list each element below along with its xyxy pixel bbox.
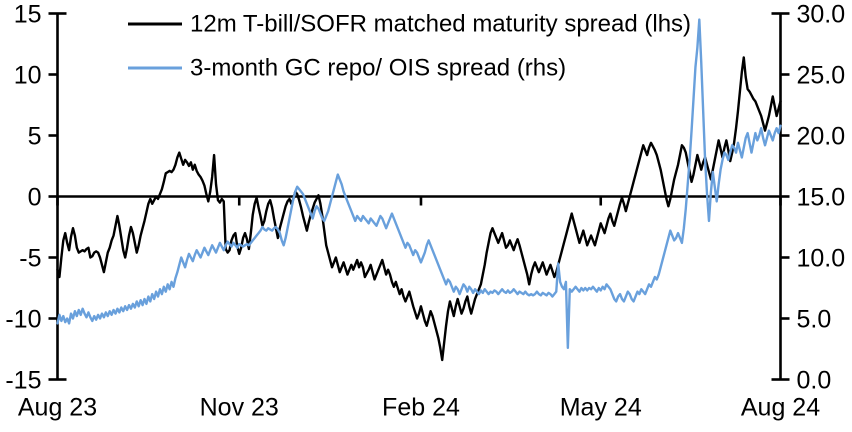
y-axis-right-tick-label: 10.0 — [797, 245, 846, 273]
y-axis-right-tick-label: 30.0 — [797, 1, 846, 29]
x-axis-tick-label: Aug 24 — [741, 394, 820, 422]
series-line-lhs — [58, 57, 781, 360]
y-axis-right-tick-label: 5.0 — [797, 306, 832, 334]
y-axis-left-tick-label: 5 — [28, 123, 42, 151]
chart-legend: 12m T-bill/SOFR matched maturity spread … — [128, 10, 691, 81]
legend-label-0: 12m T-bill/SOFR matched maturity spread … — [190, 10, 691, 37]
y-axis-right-tick-label: 15.0 — [797, 184, 846, 212]
y-axis-right-tick-label: 0.0 — [797, 367, 832, 395]
y-axis-right-tick-label: 20.0 — [797, 123, 846, 151]
y-axis-left-tick-label: -5 — [19, 245, 41, 273]
chart-container: 151050-5-10-15 30.025.020.015.010.05.00.… — [0, 0, 852, 432]
y-axis-right-tick-label: 25.0 — [797, 62, 846, 90]
line-chart: 151050-5-10-15 30.025.020.015.010.05.00.… — [0, 0, 852, 432]
y-axis-left-tick-label: 15 — [14, 1, 42, 29]
y-axis-left-tick-label: -15 — [5, 367, 41, 395]
x-axis-tick-label: Feb 24 — [382, 394, 460, 422]
y-axis-left-ticks: 151050-5-10-15 — [5, 1, 57, 395]
y-axis-left-tick-label: -10 — [5, 306, 41, 334]
x-axis-tick-label: Nov 23 — [200, 394, 279, 422]
y-axis-right-ticks: 30.025.020.015.010.05.00.0 — [781, 1, 846, 395]
legend-label-1: 3-month GC repo/ OIS spread (rhs) — [190, 54, 566, 81]
y-axis-left-tick-label: 0 — [28, 184, 42, 212]
y-axis-left-tick-label: 10 — [14, 62, 42, 90]
x-axis-tick-label: May 24 — [560, 394, 642, 422]
x-axis-tick-label: Aug 23 — [18, 394, 97, 422]
